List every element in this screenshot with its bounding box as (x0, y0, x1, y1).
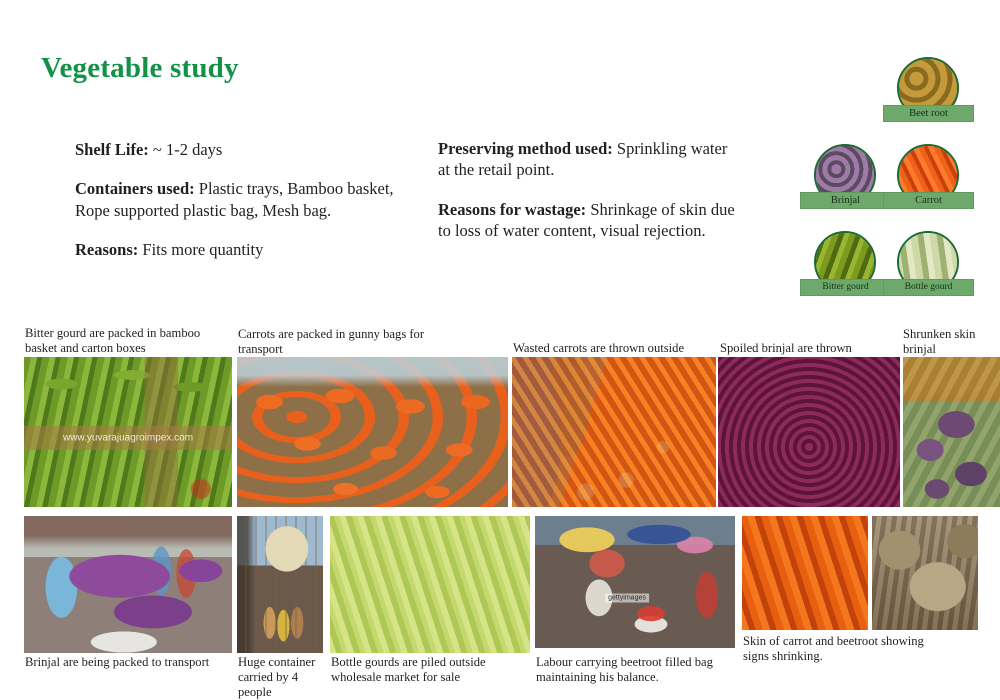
info-column-right: Preserving method used: Sprinkling water… (438, 138, 738, 260)
info-label: Containers used: (75, 179, 195, 198)
info-label: Shelf Life: (75, 140, 149, 159)
vegetable-thumb-carrot: Carrot (897, 144, 961, 206)
info-item-preserving-method: Preserving method used: Sprinkling water… (438, 138, 738, 181)
page-title: Vegetable study (41, 52, 239, 85)
vegetable-thumb-bitter-gourd: Bitter gourd (814, 231, 878, 293)
info-item-shelf-life: Shelf Life: ~ 1-2 days (75, 139, 410, 160)
photo-caption-labour-beetroot: Labour carrying beetroot filled bag main… (536, 655, 741, 685)
vegetable-thumb-label: Brinjal (800, 192, 891, 209)
photo-bottle-gourds-piled (330, 516, 530, 653)
vegetable-thumb-label: Bitter gourd (800, 279, 891, 296)
photo-beetroot-skin (872, 516, 978, 630)
photo-wasted-carrots (512, 357, 716, 507)
info-value: ~ 1-2 days (149, 140, 223, 159)
photo-caption-wasted-carrots: Wasted carrots are thrown outside (513, 341, 718, 356)
photo-caption-shrunken-skin-brinjal: Shrunken skin brinjal (903, 327, 998, 357)
vegetable-thumb-bottle-gourd: Bottle gourd (897, 231, 961, 293)
photo-shrunken-skin-brinjal (903, 357, 1000, 507)
info-item-reasons-for-wastage: Reasons for wastage: Shrinkage of skin d… (438, 199, 738, 242)
photo-caption-bitter-gourd-packed: Bitter gourd are packed in bamboo basket… (25, 326, 230, 356)
photo-carrot-skin (742, 516, 868, 630)
photo-caption-brinjal-packed: Brinjal are being packed to transport (25, 655, 230, 670)
vegetable-thumb-beet-root: Beet root (897, 57, 961, 119)
vegetable-thumb-brinjal: Brinjal (814, 144, 878, 206)
photo-watermark: www.yuvarajuagroimpex.com (63, 433, 193, 444)
photo-spoiled-brinjal (718, 357, 900, 507)
info-item-containers-used: Containers used: Plastic trays, Bamboo b… (75, 178, 410, 221)
vegetable-thumb-label: Carrot (883, 192, 974, 209)
info-label: Preserving method used: (438, 139, 613, 158)
info-label: Reasons for wastage: (438, 200, 586, 219)
photo-brinjal-packed (24, 516, 232, 653)
vegetable-thumb-label: Beet root (883, 105, 974, 122)
vegetable-thumb-label: Bottle gourd (883, 279, 974, 296)
photo-huge-container (237, 516, 323, 653)
photo-caption-spoiled-brinjal: Spoiled brinjal are thrown (720, 341, 900, 356)
info-label: Reasons: (75, 240, 138, 259)
info-value: Fits more quantity (138, 240, 263, 259)
info-column-left: Shelf Life: ~ 1-2 days Containers used: … (75, 139, 410, 279)
photo-caption-carrots-gunny-bags: Carrots are packed in gunny bags for tra… (238, 327, 458, 357)
photo-carrots-gunny-bags (237, 357, 508, 507)
info-item-reasons: Reasons: Fits more quantity (75, 239, 410, 260)
photo-caption-carrot-beetroot-skin: Skin of carrot and beetroot showing sign… (743, 634, 943, 664)
photo-caption-bottle-gourds-piled: Bottle gourds are piled outside wholesal… (331, 655, 531, 685)
photo-bitter-gourd-packed: www.yuvarajuagroimpex.com (24, 357, 232, 507)
photo-caption-huge-container: Huge container carried by 4 people (238, 655, 324, 700)
slide-page: Vegetable study Shelf Life: ~ 1-2 days C… (0, 0, 1000, 700)
photo-labour-beetroot: gettyimages (535, 516, 735, 648)
photo-watermark: gettyimages (605, 593, 649, 602)
